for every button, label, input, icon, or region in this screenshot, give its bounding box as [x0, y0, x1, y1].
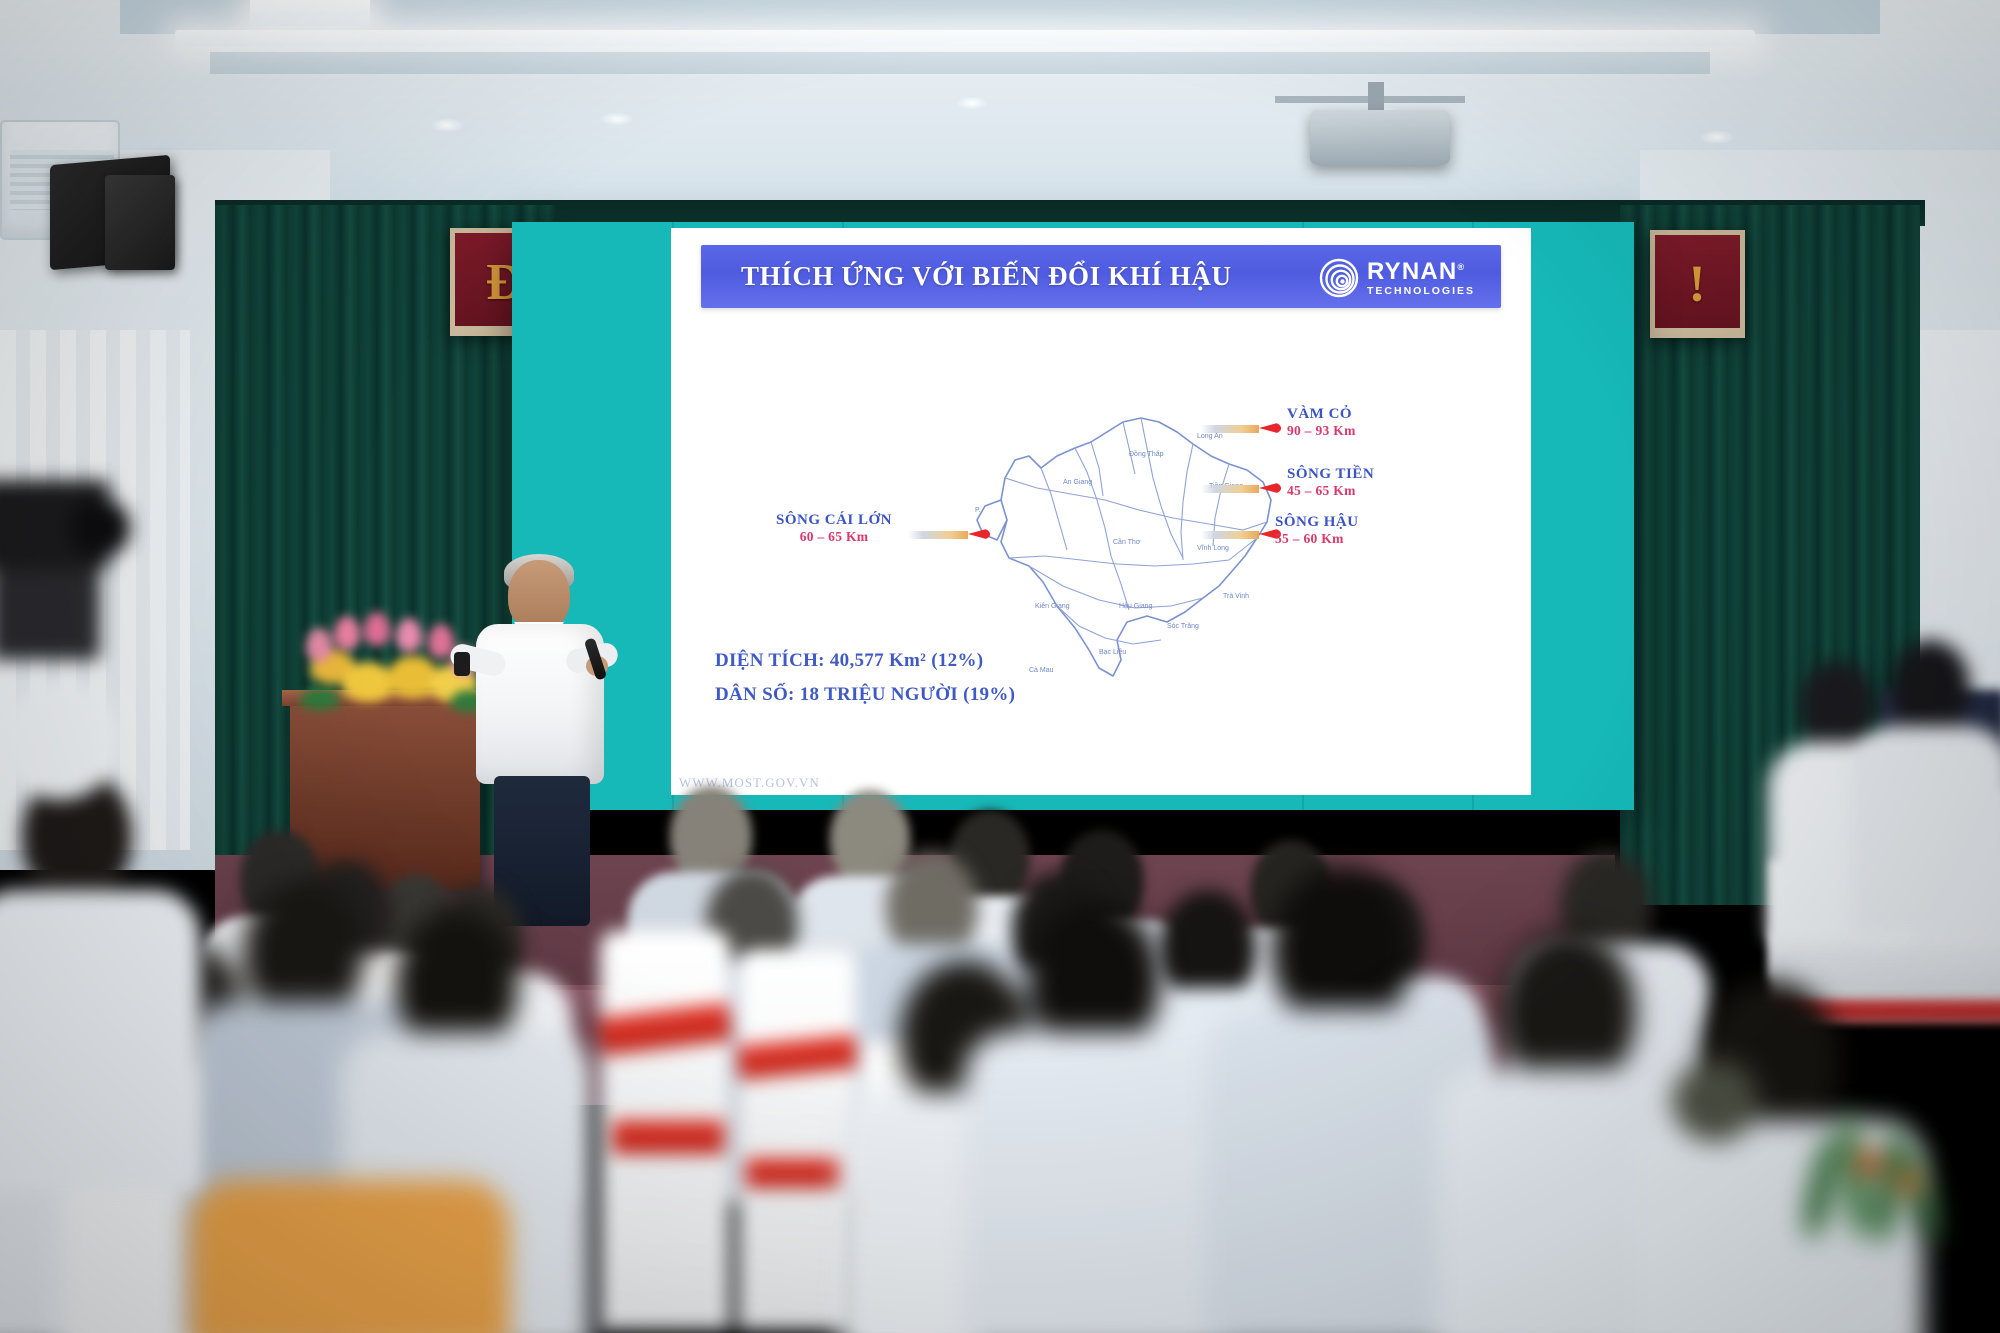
river-name: VÀM CỎ — [1287, 406, 1356, 423]
slide-title-bar: THÍCH ỨNG VỚI BIẾN ĐỔI KHÍ HẬU — [701, 245, 1501, 308]
map-province-labels: Long An Đồng Tháp An Giang Tiền Giang Cầ… — [975, 433, 1249, 674]
mekong-delta-map: Long An Đồng Tháp An Giang Tiền Giang Cầ… — [971, 360, 1301, 690]
banner-bottom-bar — [1655, 328, 1740, 338]
svg-text:Sóc Trăng: Sóc Trăng — [1167, 623, 1199, 630]
svg-text:P.: P. — [975, 507, 981, 514]
camera-lens — [70, 500, 130, 556]
svg-text:Kiên Giang: Kiên Giang — [1035, 603, 1070, 610]
rynan-name-text: RYNAN — [1367, 258, 1457, 285]
ceiling-downlight — [1700, 130, 1734, 144]
river-value: 45 – 65 Km — [1287, 483, 1374, 499]
ceiling-projector — [1310, 110, 1450, 165]
river-name: SÔNG CÁI LỚN — [759, 512, 909, 529]
svg-text:Cần Thơ: Cần Thơ — [1113, 537, 1141, 546]
river-label-song-hau: SÔNG HẬU 55 – 60 Km — [1275, 514, 1359, 547]
chair-sash — [746, 1158, 848, 1188]
svg-text:Bạc Liêu: Bạc Liêu — [1099, 649, 1126, 656]
svg-text:Hậu Giang: Hậu Giang — [1119, 603, 1153, 610]
potted-plant-right — [1800, 1110, 1970, 1300]
ceiling-downlight — [430, 118, 464, 132]
rynan-tagline: TECHNOLOGIES — [1367, 286, 1475, 297]
ceiling-light-panel — [250, 0, 370, 26]
presenter-head — [508, 560, 570, 632]
stat-area: DIỆN TÍCH: 40,577 Km² (12%) — [715, 650, 983, 672]
flower-leaf — [300, 688, 340, 710]
presenter — [468, 560, 608, 920]
river-value: 60 – 65 Km — [759, 529, 909, 545]
arrow-song-tien — [1201, 482, 1281, 495]
arrow-song-hau — [1201, 528, 1281, 541]
slide-title: THÍCH ỨNG VỚI BIẾN ĐỔI KHÍ HẬU — [741, 261, 1232, 292]
river-value: 90 – 93 Km — [1287, 423, 1356, 439]
camera-body — [0, 570, 100, 660]
stat-population: DÂN SỐ: 18 TRIỆU NGƯỜI (19%) — [715, 684, 1015, 706]
headphones — [1672, 1060, 1758, 1142]
flower-lotus — [396, 618, 422, 652]
flower-lotus — [306, 628, 332, 662]
svg-text:Vĩnh Long: Vĩnh Long — [1197, 545, 1229, 552]
flower-lotus — [364, 612, 390, 646]
flower-lotus — [334, 616, 360, 650]
rynan-logo: RYNAN® TECHNOLOGIES — [1318, 257, 1475, 299]
rynan-spiral-icon — [1318, 257, 1360, 299]
camera-operator-arm — [0, 680, 120, 800]
arrow-song-cai-lon — [908, 528, 990, 541]
mekong-delta-map-svg: Long An Đồng Tháp An Giang Tiền Giang Cầ… — [971, 360, 1301, 690]
river-name: SÔNG HẬU — [1275, 514, 1359, 531]
rynan-wordmark: RYNAN® TECHNOLOGIES — [1367, 260, 1475, 297]
ceiling-downlight — [600, 112, 634, 126]
ceiling-downlight — [955, 96, 989, 110]
rynan-registered-icon: ® — [1457, 262, 1465, 272]
river-value: 55 – 60 Km — [1275, 531, 1359, 547]
svg-text:An Giang: An Giang — [1063, 479, 1092, 486]
arrow-vam-co — [1201, 422, 1281, 435]
chair-sash — [612, 1120, 724, 1154]
river-name: SÔNG TIỀN — [1287, 466, 1374, 483]
podium — [290, 700, 480, 890]
ceiling-shadow-band — [210, 52, 1710, 74]
presentation-slide: THÍCH ỨNG VỚI BIẾN ĐỔI KHÍ HẬU — [671, 228, 1531, 795]
wall-banner-right: ! — [1650, 230, 1745, 338]
river-label-song-tien: SÔNG TIỀN 45 – 65 Km — [1287, 466, 1374, 499]
chair-cover — [738, 950, 856, 1330]
river-label-song-cai-lon: SÔNG CÁI LỚN 60 – 65 Km — [759, 512, 909, 545]
svg-text:Cà Mau: Cà Mau — [1029, 667, 1054, 674]
ceiling-recess — [120, 0, 1880, 34]
presentation-clicker — [454, 652, 470, 676]
ceiling-light-strip — [175, 30, 1755, 46]
svg-text:Đồng Tháp: Đồng Tháp — [1129, 449, 1164, 458]
conference-hall-scene: Đ ! THÍCH ỨNG VỚI BIẾN ĐỔI KHÍ HẬU — [0, 0, 2000, 1333]
river-label-vam-co: VÀM CỎ 90 – 93 Km — [1287, 406, 1356, 439]
ceiling-speaker — [105, 175, 175, 270]
wall-banner-right-text: ! — [1688, 255, 1706, 314]
svg-text:Trà Vinh: Trà Vinh — [1223, 593, 1249, 600]
